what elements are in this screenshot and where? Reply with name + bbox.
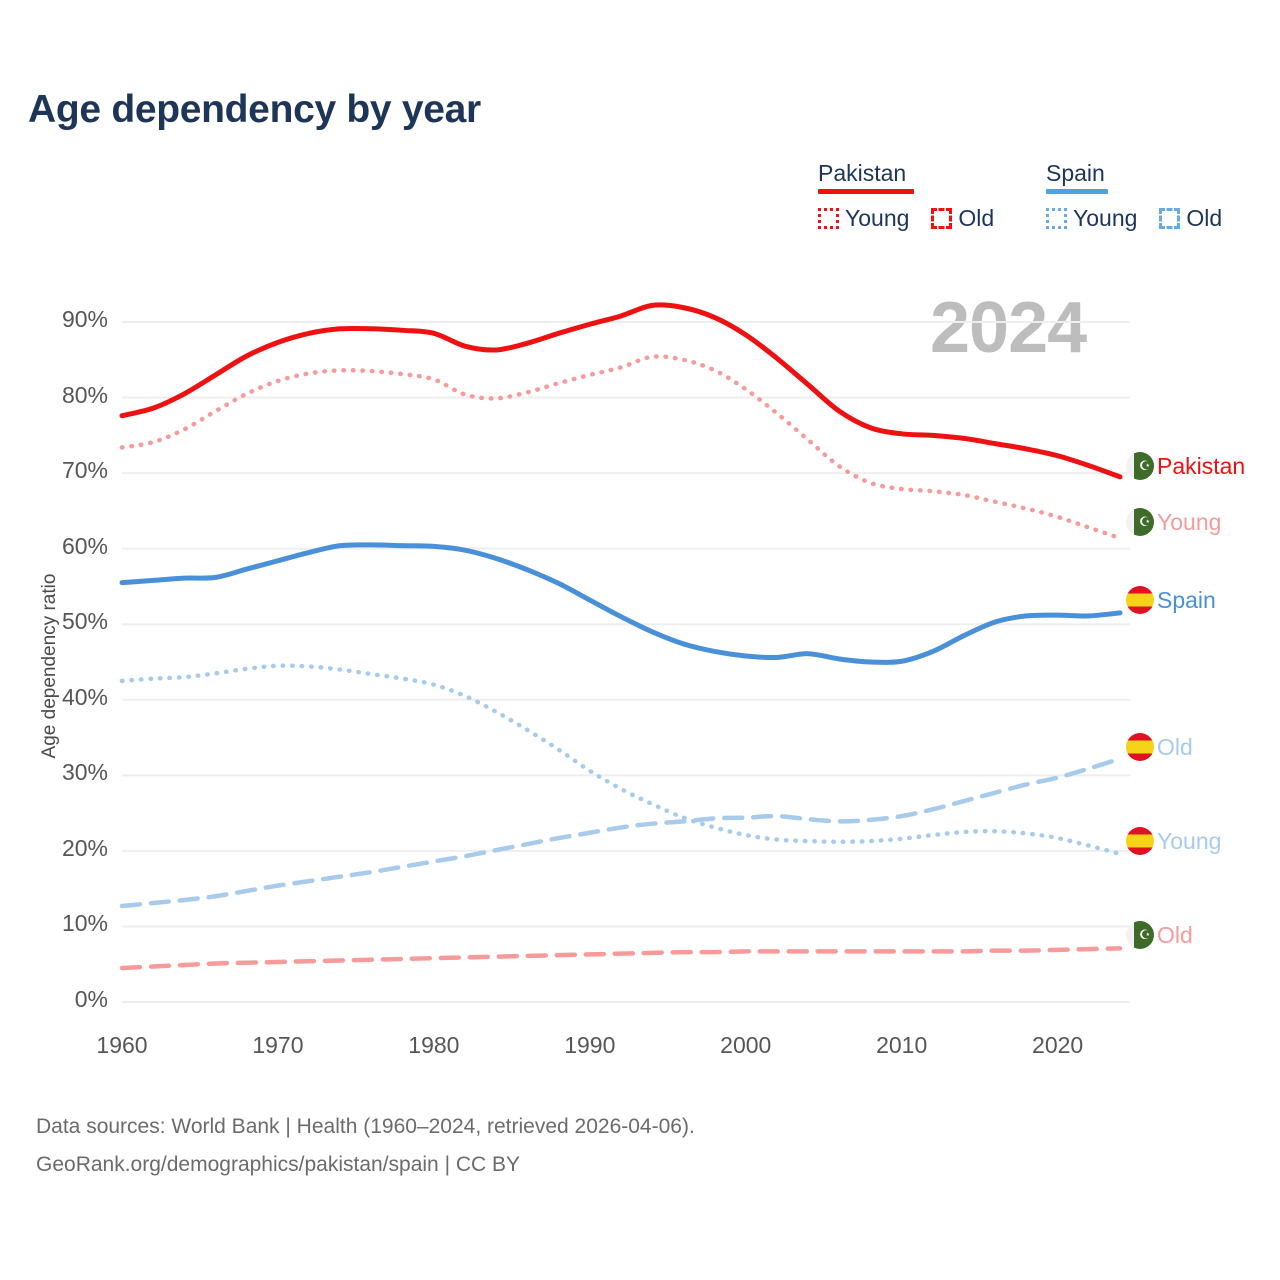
- y-tick-label: 30%: [28, 759, 108, 786]
- spain-flag-icon: [1126, 827, 1154, 855]
- y-tick-label: 90%: [28, 306, 108, 333]
- series-end-label-text: Young: [1157, 828, 1221, 855]
- footer: Data sources: World Bank | Health (1960–…: [36, 1108, 695, 1184]
- y-tick-label: 20%: [28, 835, 108, 862]
- y-tick-label: 0%: [28, 986, 108, 1013]
- series-end-label-text: Pakistan: [1157, 453, 1245, 480]
- series-end-label-text: Spain: [1157, 587, 1216, 614]
- series-end-label[interactable]: ☪Young: [1126, 508, 1221, 536]
- series-end-label-text: Young: [1157, 509, 1221, 536]
- series-lines: [122, 305, 1120, 968]
- pakistan-flag-icon: ☪: [1126, 508, 1154, 536]
- series-line: [122, 305, 1120, 477]
- series-end-label[interactable]: Spain: [1126, 586, 1216, 614]
- series-end-label-text: Old: [1157, 922, 1193, 949]
- spain-flag-icon: [1126, 586, 1154, 614]
- x-tick-label: 1980: [384, 1032, 484, 1059]
- x-tick-label: 1990: [540, 1032, 640, 1059]
- crescent-star-icon: ☪: [1139, 929, 1151, 941]
- y-tick-label: 80%: [28, 382, 108, 409]
- y-tick-label: 70%: [28, 457, 108, 484]
- series-line: [122, 759, 1120, 906]
- series-end-label[interactable]: ☪Pakistan: [1126, 452, 1245, 480]
- y-tick-label: 50%: [28, 608, 108, 635]
- gridlines: [122, 322, 1130, 1002]
- y-tick-label: 10%: [28, 910, 108, 937]
- footer-line-sources: Data sources: World Bank | Health (1960–…: [36, 1108, 695, 1146]
- pakistan-flag-icon: ☪: [1126, 452, 1154, 480]
- series-end-label[interactable]: ☪Old: [1126, 921, 1193, 949]
- crescent-star-icon: ☪: [1139, 460, 1151, 472]
- series-line: [122, 545, 1120, 663]
- x-tick-label: 2020: [1008, 1032, 1108, 1059]
- series-end-label[interactable]: Old: [1126, 733, 1193, 761]
- y-tick-label: 60%: [28, 533, 108, 560]
- footer-line-attribution[interactable]: GeoRank.org/demographics/pakistan/spain …: [36, 1146, 695, 1184]
- y-axis-title: Age dependency ratio: [39, 546, 61, 786]
- crescent-star-icon: ☪: [1139, 516, 1151, 528]
- series-end-label-text: Old: [1157, 734, 1193, 761]
- x-tick-label: 1970: [228, 1032, 328, 1059]
- series-line: [122, 948, 1120, 968]
- x-tick-label: 2000: [696, 1032, 796, 1059]
- chart-plot: [0, 0, 1280, 1280]
- spain-flag-icon: [1126, 733, 1154, 761]
- x-tick-label: 1960: [72, 1032, 172, 1059]
- x-tick-label: 2010: [852, 1032, 952, 1059]
- pakistan-flag-icon: ☪: [1126, 921, 1154, 949]
- chart-page: Age dependency by year Pakistan Young Ol…: [0, 0, 1280, 1280]
- series-line: [122, 356, 1120, 538]
- y-tick-label: 40%: [28, 684, 108, 711]
- series-end-label[interactable]: Young: [1126, 827, 1221, 855]
